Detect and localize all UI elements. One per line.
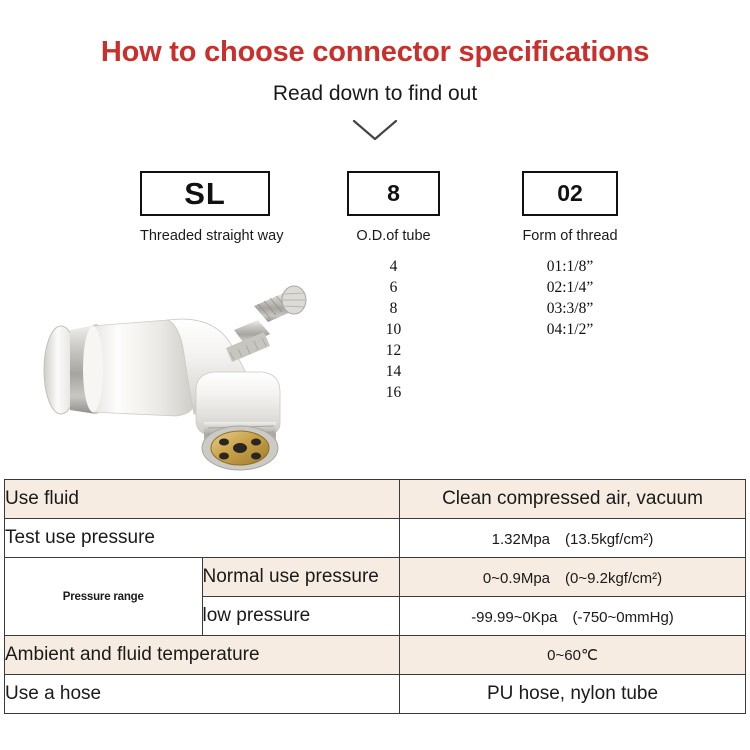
code-box-series[interactable]: SL: [140, 171, 270, 216]
option-thread-3: 04:1/2”: [522, 319, 618, 340]
table-row: Test use pressure1.32Mpa (13.5kgf/cm²): [5, 519, 746, 558]
code-box-tube-od[interactable]: 8: [347, 171, 440, 216]
option-thread-2: 03:3/8”: [522, 298, 618, 319]
option-thread-1: 02:1/4”: [522, 277, 618, 298]
code-caption-series: Threaded straight way: [140, 228, 270, 244]
code-caption-tube-od: O.D.of tube: [347, 228, 440, 244]
page-subtitle: Read down to find out: [0, 82, 750, 106]
table-row: Use fluidClean compressed air, vacuum: [5, 480, 746, 519]
option-tube-6: 16: [347, 382, 440, 403]
table-cell-label: Use a hose: [5, 675, 400, 714]
table-cell-label: low pressure: [202, 597, 400, 636]
option-list-thread-form: 01:1/8”02:1/4”03:3/8”04:1/2”: [522, 256, 618, 340]
table-cell-value: 0~0.9Mpa (0~9.2kgf/cm²): [400, 558, 746, 597]
table-row: Pressure rangeNormal use pressure0~0.9Mp…: [5, 558, 746, 597]
product-photo: [18, 262, 328, 477]
table-cell-value: 1.32Mpa (13.5kgf/cm²): [400, 519, 746, 558]
table-rowgroup-label: Pressure range: [5, 558, 203, 636]
option-tube-3: 10: [347, 319, 440, 340]
table-cell-value: PU hose, nylon tube: [400, 675, 746, 714]
option-tube-4: 12: [347, 340, 440, 361]
table-cell-value: Clean compressed air, vacuum: [400, 480, 746, 519]
code-caption-thread-form: Form of thread: [522, 228, 618, 244]
option-tube-2: 8: [347, 298, 440, 319]
table-row: Ambient and fluid temperature0~60℃: [5, 636, 746, 675]
code-box-thread-form[interactable]: 02: [522, 171, 618, 216]
option-list-tube-od: 46810121416: [347, 256, 440, 403]
table-cell-label: Ambient and fluid temperature: [5, 636, 400, 675]
chevron-down-icon: [352, 118, 398, 144]
table-cell-label: Use fluid: [5, 480, 400, 519]
table-cell-label: Normal use pressure: [202, 558, 400, 597]
option-tube-1: 6: [347, 277, 440, 298]
table-cell-label: Test use pressure: [5, 519, 400, 558]
table-cell-value: -99.99~0Kpa (-750~0mmHg): [400, 597, 746, 636]
option-thread-0: 01:1/8”: [522, 256, 618, 277]
table-cell-value: 0~60℃: [400, 636, 746, 675]
specification-table: Use fluidClean compressed air, vacuumTes…: [4, 479, 746, 714]
option-tube-0: 4: [347, 256, 440, 277]
page-title: How to choose connector specifications: [0, 36, 750, 69]
table-row: Use a hosePU hose, nylon tube: [5, 675, 746, 714]
option-tube-5: 14: [347, 361, 440, 382]
